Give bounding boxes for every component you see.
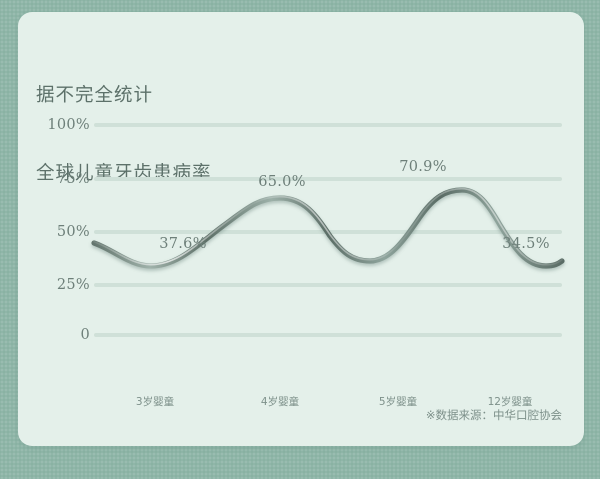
- x-category-1: 4岁婴童 龋齿患病率: [254, 359, 307, 446]
- x-category-3: 12岁婴童 龋齿患病率: [484, 359, 537, 446]
- y-tick-0: 0: [32, 327, 90, 343]
- x-category-2: 5岁婴童 龋齿患病率: [372, 359, 425, 446]
- data-label-1: 65.0%: [258, 174, 306, 190]
- data-label-3: 34.5%: [502, 236, 550, 252]
- y-tick-50: 50%: [32, 224, 90, 240]
- chart-plot-area: 100% 75% 50% 25% 0: [18, 12, 584, 446]
- y-tick-25: 25%: [32, 277, 90, 293]
- gridline-75: [94, 177, 562, 181]
- y-tick-100: 100%: [32, 117, 90, 133]
- y-tick-75: 75%: [32, 171, 90, 187]
- chart-card: 据不完全统计 全球儿童牙齿患病率 100% 75% 50% 25% 0: [18, 12, 584, 446]
- gridline-50: [94, 230, 562, 234]
- curve-highlight: [94, 189, 562, 265]
- x-category-2-age: 5岁婴童: [372, 394, 425, 411]
- source-note: ※数据来源：中华口腔协会: [426, 407, 562, 423]
- x-category-0-age: 3岁婴童: [103, 394, 208, 411]
- gridline-0: [94, 333, 562, 337]
- gridline-100: [94, 123, 562, 127]
- y-axis: 100% 75% 50% 25% 0: [18, 12, 90, 446]
- data-label-2: 70.9%: [399, 159, 447, 175]
- screenshot-root: 据不完全统计 全球儿童牙齿患病率 100% 75% 50% 25% 0: [0, 0, 600, 479]
- data-label-0: 37.6%: [159, 236, 207, 252]
- curve-path: [94, 190, 562, 266]
- x-category-0: 3岁婴童 牙釉质发育不全患病率: [103, 359, 208, 446]
- x-category-1-age: 4岁婴童: [254, 394, 307, 411]
- gridline-25: [94, 283, 562, 287]
